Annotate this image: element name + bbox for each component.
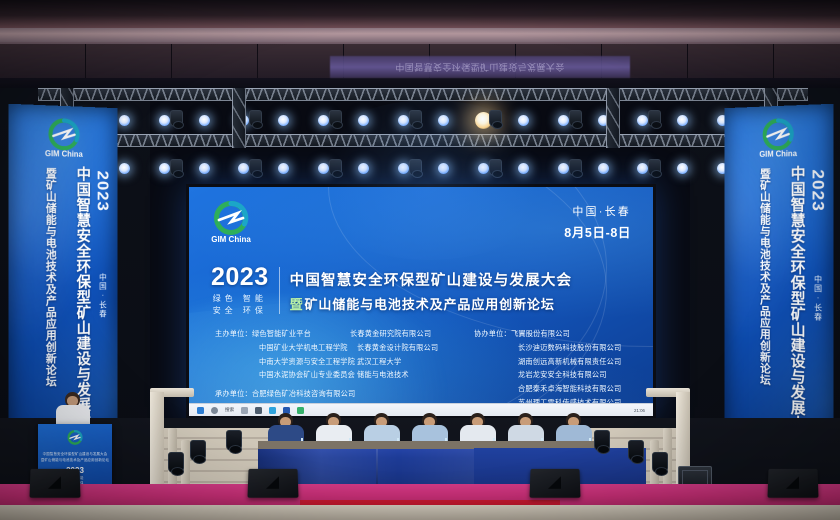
moving-head-light [569, 159, 582, 176]
stage-lamp [398, 115, 409, 126]
stage-lamp [358, 115, 369, 126]
event-title-sub-prefix: 暨 [290, 297, 304, 312]
svg-text:GIM China: GIM China [45, 149, 83, 159]
stage-lamp [438, 163, 449, 174]
moving-head-light [249, 110, 262, 127]
moving-head-light [329, 110, 342, 127]
stage-lamp [677, 163, 688, 174]
stage-lamp [637, 163, 648, 174]
drape-fold [376, 449, 378, 487]
gim-china-logo-icon: GIM China [205, 199, 257, 249]
co-organizers: 协办单位： 飞翼股份有限公司 长沙迪迈数码科技股份有限公司 湖南创远高新机械有限… [470, 327, 639, 410]
gim-china-logo-icon: GIM China [41, 115, 86, 162]
event-date: 8月5日-8日 [564, 222, 631, 241]
moving-head-light [170, 159, 183, 176]
host-col-b-0: 长春黄金研究院有限公司 [350, 327, 470, 341]
event-slogan-line2: 安全 环保 [211, 305, 269, 317]
truss-leg [232, 88, 246, 148]
podium-title-line1: 中国智慧安全环保型矿山建设与发展大会 [38, 451, 112, 456]
led-screen-content: GIM China 中国·长春 8月5日-8日 2023 绿色 智能 安全 环保… [189, 187, 653, 416]
stage-photo: 中国智慧安全环保型矿山建设与发展大会 GIM China 2023 中国·长春 … [0, 0, 840, 520]
stage-lamp [278, 163, 289, 174]
lighting-truss [0, 88, 840, 198]
stage-light-row-upper [38, 112, 808, 134]
undertaker-name: 合肥绿色矿冶科技咨询有限公司 [252, 387, 355, 401]
seated-official [362, 413, 402, 443]
organizer-block: 主办单位： 绿色智能矿业平台 长春黄金研究院有限公司 中国矿业大学机电工程学院 … [215, 327, 639, 410]
stage-lamp [318, 163, 329, 174]
stage-lamp [119, 115, 130, 126]
stage-apron-edge [0, 505, 840, 520]
stage-lamp [478, 163, 489, 174]
svg-text:GIM China: GIM China [759, 149, 797, 159]
gim-china-logo-icon [64, 429, 86, 450]
seated-official [314, 413, 354, 443]
windows-start-icon[interactable] [197, 407, 204, 414]
stage-lamp [438, 115, 449, 126]
host-col-a-3: 中国水泥协会矿山专业委员会 [259, 368, 357, 382]
stage-monitor-speaker [247, 469, 298, 498]
ceiling-panel [86, 44, 172, 78]
host-col-b-3: 储能与电池技术 [357, 368, 470, 382]
stage-lamp [159, 163, 170, 174]
stage-lamp [598, 163, 609, 174]
host-col-b-1: 长春黄金设计院有限公司 [357, 341, 470, 355]
event-titles: 中国智慧安全环保型矿山建设与发展大会 暨矿山储能与电池技术及产品应用创新论坛 [290, 269, 637, 313]
stage-lamp [199, 115, 210, 126]
moving-head-light [628, 440, 644, 461]
podium-title-line2: 暨矿山储能与电池技术及产品应用创新论坛 [38, 457, 112, 462]
stage-light-row-lower [38, 160, 808, 182]
moving-head-light [489, 159, 502, 176]
stage-lamp [119, 163, 130, 174]
seated-official [410, 413, 450, 443]
event-slogan-line1: 绿色 智能 [211, 293, 269, 305]
stage-monitor-speaker [529, 469, 580, 498]
ceiling-panel [688, 44, 774, 78]
taskbar-clock[interactable]: 21:06 [634, 408, 645, 413]
banner-right-city: 中国·长春 [813, 275, 824, 322]
moving-head-light [594, 430, 610, 451]
banner-left-year: 2023 [93, 170, 112, 211]
event-city: 中国·长春 [564, 203, 631, 219]
seated-official [458, 413, 498, 443]
seated-official [554, 413, 594, 443]
seated-official [506, 413, 546, 443]
ceiling-panel [172, 44, 258, 78]
event-title-sub-text: 矿山储能与电池技术及产品应用创新论坛 [305, 297, 555, 312]
moving-head-light [170, 110, 183, 127]
coorg-1: 长沙迪迈数码科技股份有限公司 [474, 341, 639, 355]
task-view-icon[interactable] [241, 407, 248, 414]
moving-head-light [249, 159, 262, 176]
host-col-a-0: 绿色智能矿业平台 [252, 327, 350, 341]
banner-right-title-sub: 暨矿山储能与电池技术及产品应用创新论坛 [757, 168, 772, 386]
event-title-row: 2023 绿色 智能 安全 环保 中国智慧安全环保型矿山建设与发展大会 暨矿山储… [211, 265, 637, 316]
stage-lamp [558, 163, 569, 174]
host-col-b-2: 武汉工程大学 [357, 355, 470, 369]
coorg-3: 龙岩龙安安全科技有限公司 [474, 368, 639, 382]
svg-text:GIM China: GIM China [211, 235, 251, 244]
stage-lamp [518, 163, 529, 174]
moving-head-light [329, 159, 342, 176]
moving-head-light [226, 430, 242, 451]
led-screen: GIM China 中国·长春 8月5日-8日 2023 绿色 智能 安全 环保… [186, 184, 656, 419]
moving-head-light [190, 440, 206, 461]
speaker-at-podium [56, 392, 90, 428]
stage-lamp [199, 163, 210, 174]
ceiling-panel [774, 44, 840, 78]
moving-head-light [648, 110, 661, 127]
banner-right-year: 2023 [808, 169, 828, 212]
host-col-a-1: 中国矿业大学机电工程学院 [259, 341, 357, 355]
search-icon[interactable] [211, 407, 218, 414]
stage-lamp [159, 115, 170, 126]
event-title-sub: 暨矿山储能与电池技术及产品应用创新论坛 [290, 294, 637, 313]
event-year: 2023 [211, 265, 269, 290]
stage-lamp [398, 163, 409, 174]
stage-lamp [637, 115, 648, 126]
host-col-a-2: 中南大学资源与安全工程学院 [259, 355, 357, 369]
ceiling-beam [0, 28, 840, 42]
moving-head-light [168, 452, 184, 473]
host-label: 主办单位： [215, 327, 252, 341]
banner-right-title-main: 中国智慧安全环保型矿山建设与发展大会 [787, 165, 808, 447]
moving-head-light [648, 159, 661, 176]
moving-head-light [409, 159, 422, 176]
banner-left-title-sub: 暨矿山储能与电池技术及产品应用创新论坛 [42, 168, 58, 388]
stage-lamp [358, 163, 369, 174]
truss-bar-upper [38, 88, 808, 101]
file-explorer-icon[interactable] [255, 407, 262, 414]
title-divider [279, 267, 280, 314]
stage-lamp [278, 115, 289, 126]
stage-lamp [677, 115, 688, 126]
banner-right: GIM China 2023 中国·长春 中国智慧安全环保型矿山建设与发展大会 … [725, 104, 834, 472]
undertaker-label: 承办单位： [215, 387, 252, 401]
stage-lamp [318, 115, 329, 126]
event-title-main: 中国智慧安全环保型矿山建设与发展大会 [290, 269, 637, 290]
coorg-0: 飞翼股份有限公司 [511, 327, 570, 341]
moving-head-light [569, 110, 582, 127]
host-organizers: 主办单位： 绿色智能矿业平台 长春黄金研究院有限公司 中国矿业大学机电工程学院 … [215, 327, 470, 410]
event-location-date: 中国·长春 8月5日-8日 [564, 203, 631, 241]
coorg-4: 合肥泰禾卓海智能科技有限公司 [474, 382, 639, 396]
seated-official [266, 413, 306, 443]
moving-head-light [489, 110, 502, 127]
coorg-label: 协办单位： [474, 327, 511, 341]
ceiling-reflection-text: 中国智慧安全环保型矿山建设与发展大会 [335, 58, 625, 74]
stage-monitor-speaker [767, 469, 818, 498]
taskbar-search-text[interactable]: 搜索 [225, 407, 234, 413]
coorg-2: 湖南创远高新机械有限责任公司 [474, 355, 639, 369]
moving-head-light [409, 110, 422, 127]
balustrade-newel [150, 392, 164, 484]
gim-china-logo-icon: GIM China [756, 115, 801, 162]
moving-head-light [652, 452, 668, 473]
truss-leg [606, 88, 620, 148]
truss-bar-lower [38, 134, 808, 147]
stage-lamp [238, 163, 249, 174]
stage-lamp [558, 115, 569, 126]
banner-left-city: 中国·长春 [98, 273, 108, 319]
ceiling-panel [0, 44, 86, 78]
stage-lamp [518, 115, 529, 126]
event-year-block: 2023 绿色 智能 安全 环保 [211, 265, 269, 316]
stage-monitor-speaker [29, 469, 80, 498]
